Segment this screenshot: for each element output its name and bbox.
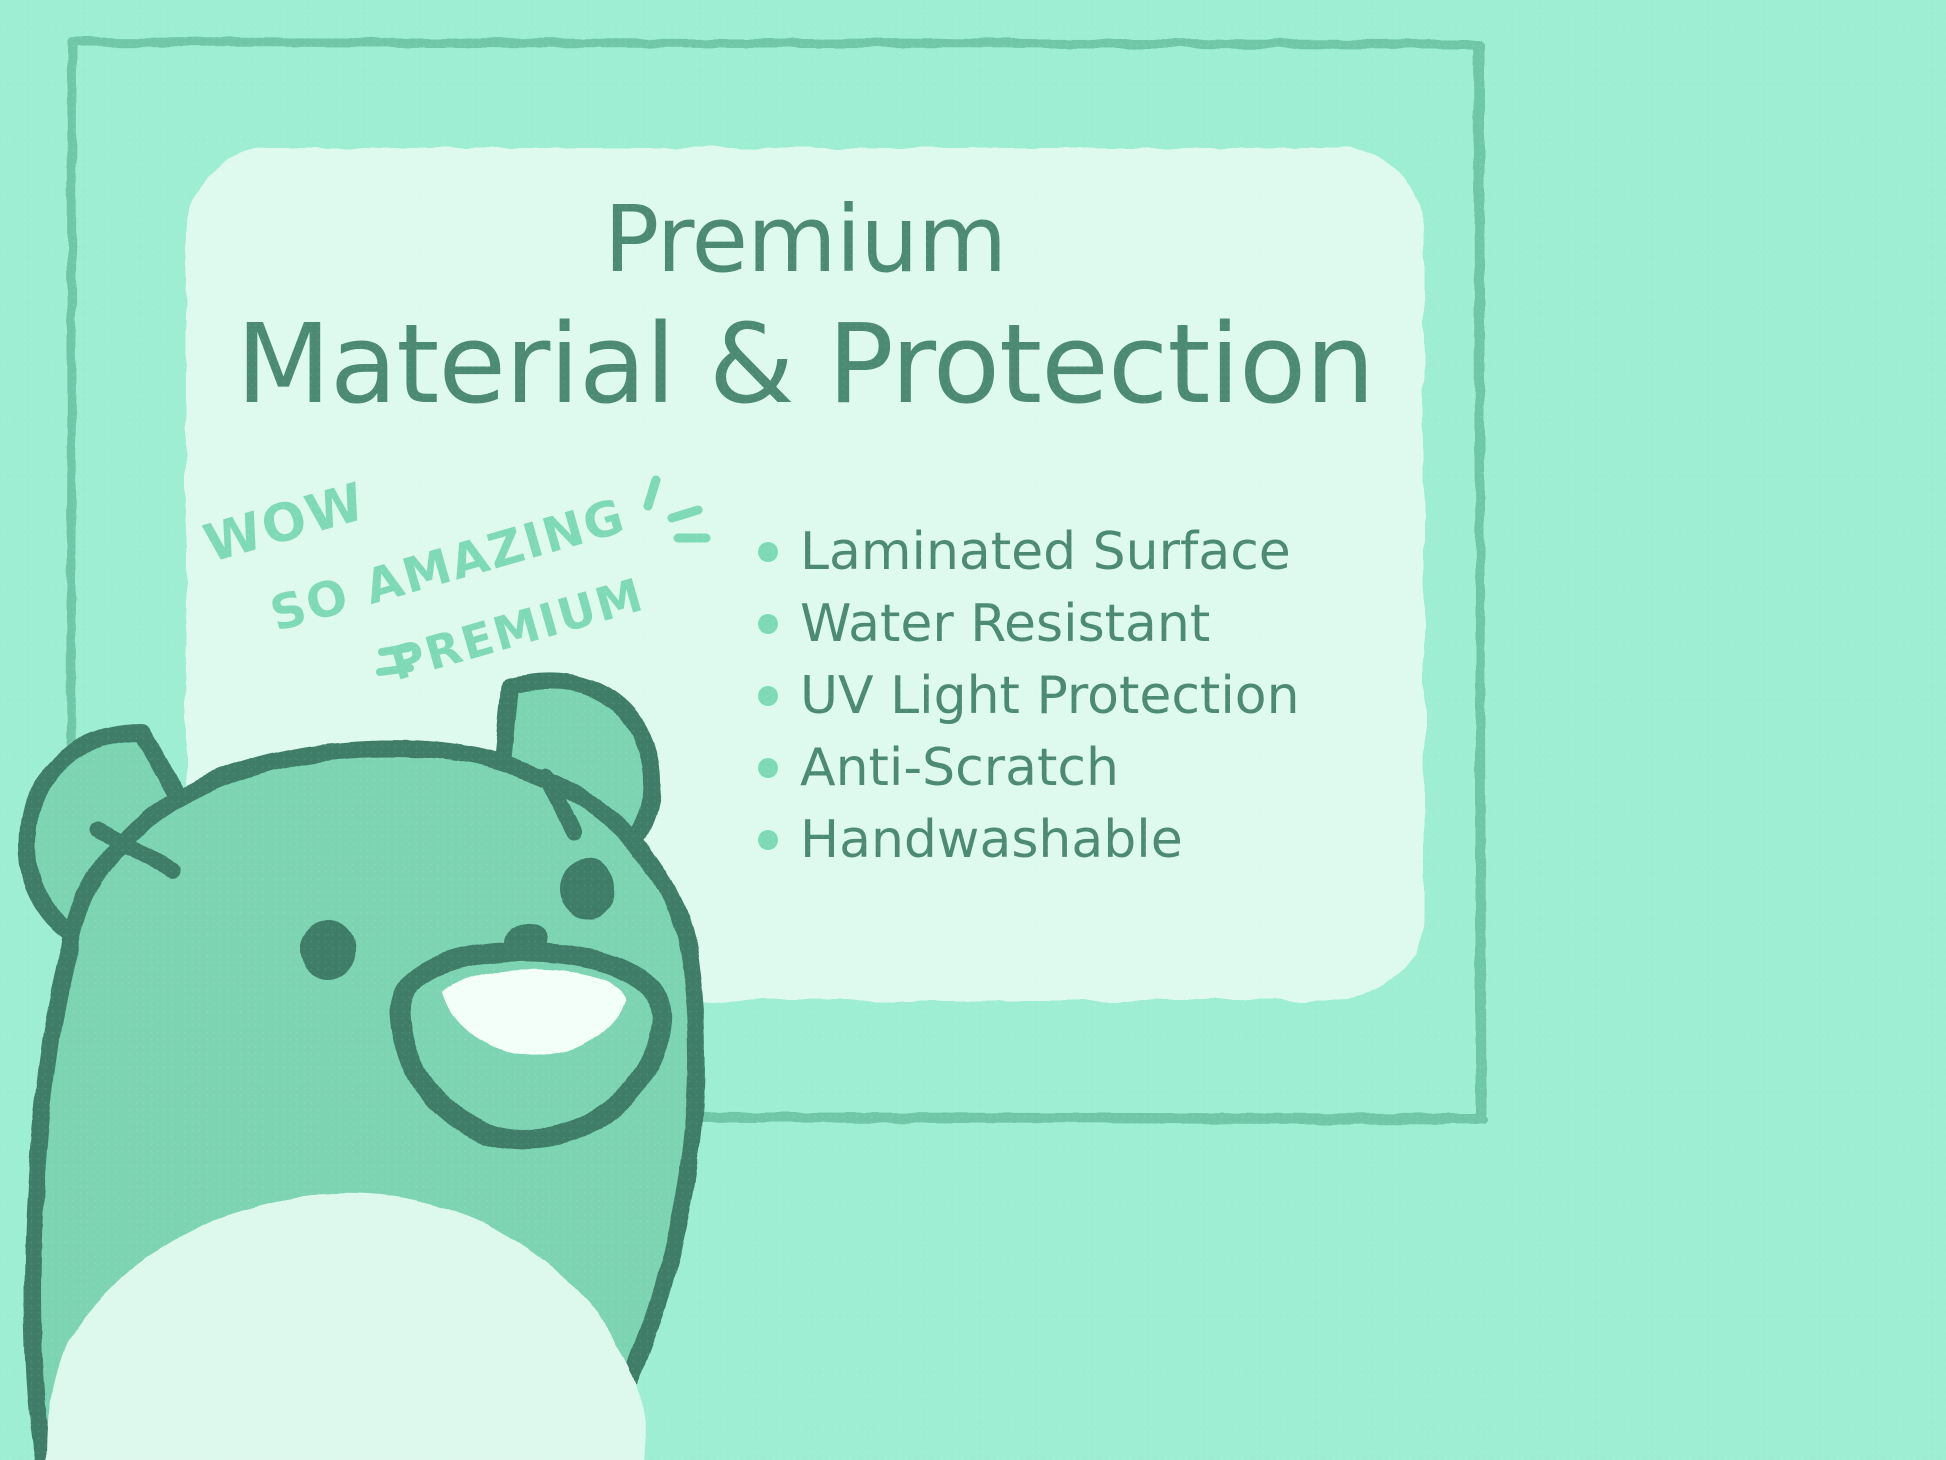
- poster-canvas: Premium Material & Protection WOW SO AMA…: [0, 0, 1946, 1460]
- title-line-2: Material & Protection: [186, 302, 1424, 426]
- list-item: Anti-Scratch: [758, 732, 1300, 804]
- feature-label: Anti-Scratch: [800, 740, 1119, 796]
- feature-label: UV Light Protection: [800, 668, 1300, 724]
- feature-label: Handwashable: [800, 812, 1183, 868]
- feature-label: Water Resistant: [800, 596, 1210, 652]
- bullet-dot-icon: [758, 542, 778, 562]
- feature-label: Laminated Surface: [800, 524, 1291, 580]
- bear-mascot-illustration: [0, 620, 810, 1460]
- list-item: Handwashable: [758, 804, 1300, 876]
- feature-list: Laminated Surface Water Resistant UV Lig…: [758, 516, 1300, 876]
- title-line-1: Premium: [186, 186, 1424, 294]
- list-item: Laminated Surface: [758, 516, 1300, 588]
- page-title: Premium Material & Protection: [186, 186, 1424, 426]
- list-item: UV Light Protection: [758, 660, 1300, 732]
- list-item: Water Resistant: [758, 588, 1300, 660]
